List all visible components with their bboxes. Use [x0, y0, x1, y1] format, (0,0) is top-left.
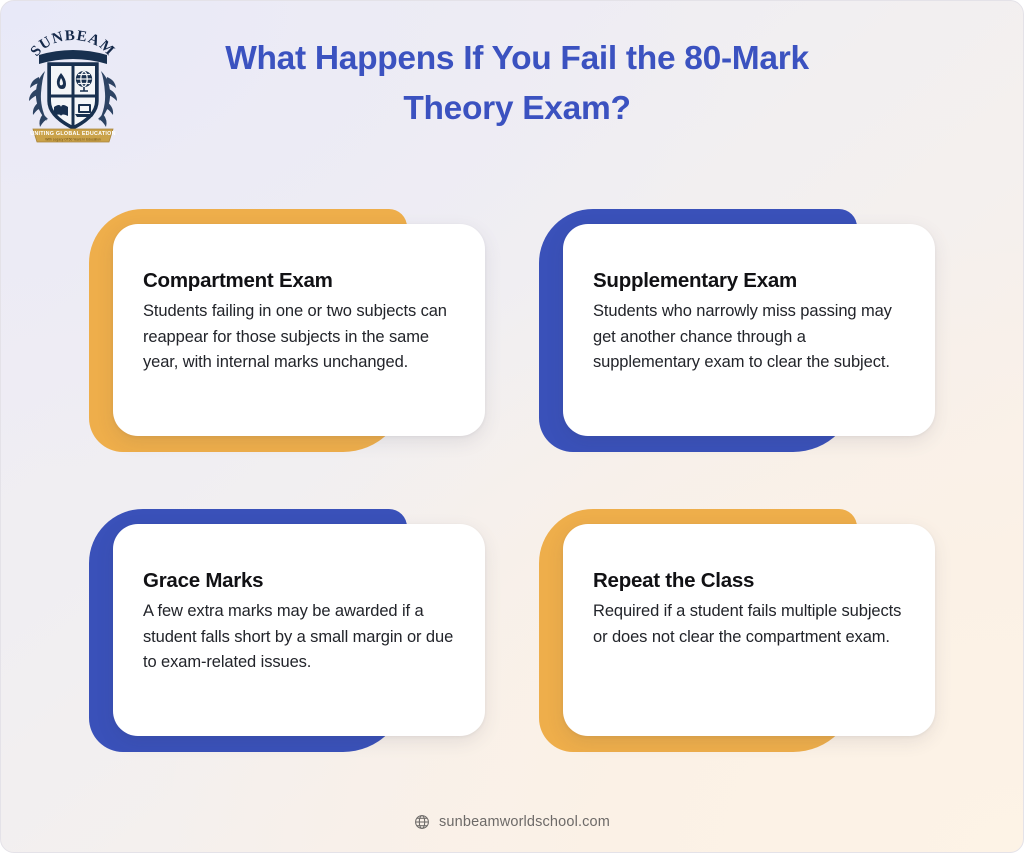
card-title: Compartment Exam	[143, 269, 455, 293]
card-row-2: Grace Marks A few extra marks may be awa…	[1, 501, 1024, 801]
card-grace-marks[interactable]: Grace Marks A few extra marks may be awa…	[89, 501, 485, 751]
card-body: Required if a student fails multiple sub…	[593, 599, 905, 650]
footer: sunbeamworldschool.com	[1, 814, 1023, 830]
footer-url[interactable]: sunbeamworldschool.com	[439, 814, 610, 830]
card-title: Grace Marks	[143, 569, 455, 593]
laurel-right-icon	[98, 71, 117, 127]
sunbeam-crest-icon: SUNBEAM WORLD SCHOOL	[25, 23, 121, 143]
logo-ribbon	[39, 50, 107, 64]
card-surface: Grace Marks A few extra marks may be awa…	[113, 524, 485, 736]
school-logo: SUNBEAM WORLD SCHOOL	[25, 23, 121, 143]
card-surface: Repeat the Class Required if a student f…	[563, 524, 935, 736]
card-grid: Compartment Exam Students failing in one…	[1, 201, 1024, 801]
card-row-1: Compartment Exam Students failing in one…	[1, 201, 1024, 501]
card-body: Students who narrowly miss passing may g…	[593, 299, 905, 376]
page-title-line2: Theory Exam?	[403, 90, 630, 127]
card-surface: Compartment Exam Students failing in one…	[113, 224, 485, 436]
logo-tagline-text: UNITING GLOBAL EDUCATION	[30, 131, 115, 137]
logo-subtagline-text: With Legacy Of 50 Years In Education	[45, 137, 101, 141]
card-title: Supplementary Exam	[593, 269, 905, 293]
laurel-left-icon	[29, 71, 48, 127]
page-title-line1: What Happens If You Fail the 80-Mark	[225, 40, 809, 77]
card-surface: Supplementary Exam Students who narrowly…	[563, 224, 935, 436]
card-title: Repeat the Class	[593, 569, 905, 593]
card-body: Students failing in one or two subjects …	[143, 299, 455, 376]
header: SUNBEAM WORLD SCHOOL	[1, 1, 1023, 169]
card-body: A few extra marks may be awarded if a st…	[143, 599, 455, 676]
card-compartment-exam[interactable]: Compartment Exam Students failing in one…	[89, 201, 485, 451]
infographic-poster: SUNBEAM WORLD SCHOOL	[0, 0, 1024, 853]
globe-icon	[414, 814, 430, 830]
page-title: What Happens If You Fail the 80-Mark The…	[161, 34, 873, 134]
card-supplementary-exam[interactable]: Supplementary Exam Students who narrowly…	[539, 201, 935, 451]
card-repeat-the-class[interactable]: Repeat the Class Required if a student f…	[539, 501, 935, 751]
